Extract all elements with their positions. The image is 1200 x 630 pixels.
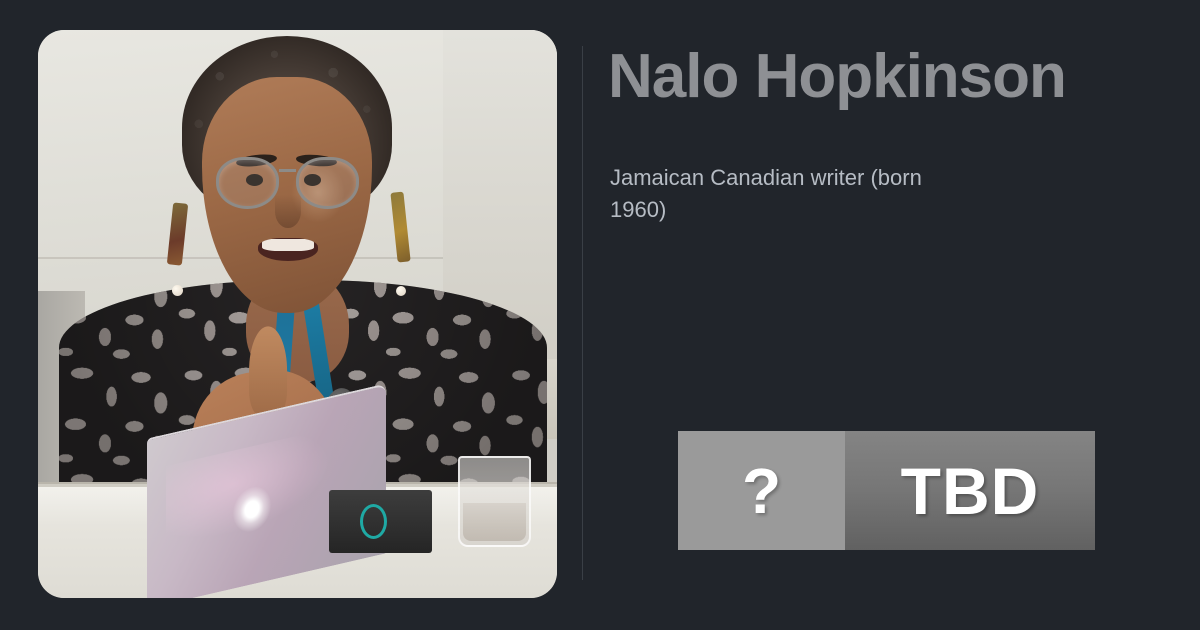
mouth xyxy=(258,238,318,262)
portrait-photo xyxy=(38,30,557,598)
audio-device xyxy=(329,490,433,552)
page-title: Nalo Hopkinson xyxy=(608,44,1066,109)
earring-right xyxy=(390,183,414,295)
head xyxy=(178,36,396,331)
cup-water xyxy=(463,503,526,541)
glasses-bridge xyxy=(279,169,296,172)
profile-card: Nalo Hopkinson Jamaican Canadian writer … xyxy=(0,0,1200,630)
earring-left-bar xyxy=(167,203,188,266)
water-cup xyxy=(458,456,531,547)
index-finger xyxy=(249,326,287,415)
page-subtitle: Jamaican Canadian writer (born 1960) xyxy=(610,162,970,226)
earring-left xyxy=(165,195,191,295)
tbd-label-block: TBD xyxy=(845,431,1095,550)
tbd-label: TBD xyxy=(901,458,1040,524)
device-dial xyxy=(360,504,387,539)
question-mark-icon: ? xyxy=(742,459,781,523)
lens-left xyxy=(216,157,279,209)
teeth xyxy=(262,239,314,251)
lens-right xyxy=(296,157,359,209)
nose xyxy=(275,195,301,228)
face xyxy=(202,77,372,313)
photo-canvas xyxy=(38,30,557,598)
question-mark-block: ? xyxy=(678,431,845,550)
earring-right-bead xyxy=(396,286,406,296)
earring-right-bar xyxy=(390,192,411,263)
tbd-badge: ? TBD xyxy=(678,431,1095,550)
vertical-divider xyxy=(582,46,583,580)
earring-left-bead xyxy=(172,285,183,296)
